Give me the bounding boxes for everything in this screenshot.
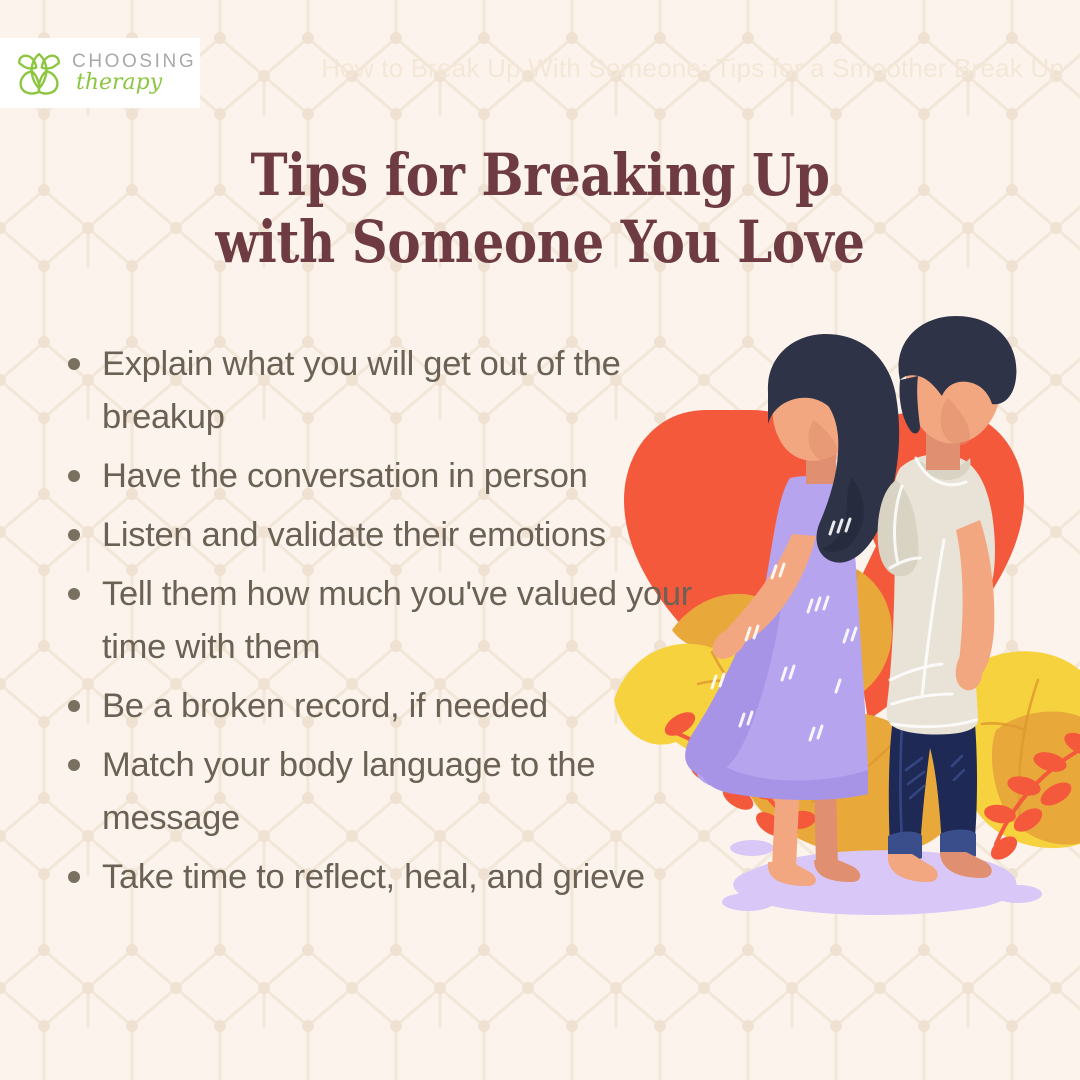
list-item-text: Have the conversation in person xyxy=(102,457,588,495)
logo-word-choosing: CHOOSING xyxy=(72,52,196,71)
list-item: Listen and validate their emotions xyxy=(60,509,700,562)
list-item: Have the conversation in person xyxy=(60,450,700,503)
choosing-therapy-logo[interactable]: CHOOSING therapy xyxy=(0,38,200,108)
list-item-text: Match your body language to the message xyxy=(102,746,595,837)
page-title: Tips for Breaking Up with Someone You Lo… xyxy=(76,142,1005,277)
bullet-dot-icon xyxy=(68,358,80,370)
page-title-line2: with Someone You Love xyxy=(76,209,1005,276)
list-item-text: Take time to reflect, heal, and grieve xyxy=(102,858,645,896)
list-item-text: Tell them how much you've valued your ti… xyxy=(102,575,692,666)
list-item: Match your body language to the message xyxy=(60,739,700,845)
list-item: Explain what you will get out of the bre… xyxy=(60,338,700,444)
lotus-flower-logo-icon xyxy=(12,46,66,100)
list-item-text: Be a broken record, if needed xyxy=(102,687,548,725)
bullet-dot-icon xyxy=(68,871,80,883)
bullet-dot-icon xyxy=(68,759,80,771)
list-item: Take time to reflect, heal, and grieve xyxy=(60,851,700,904)
list-item-text: Explain what you will get out of the bre… xyxy=(102,345,621,436)
bullet-dot-icon xyxy=(68,470,80,482)
list-item: Tell them how much you've valued your ti… xyxy=(60,568,700,674)
list-item-text: Listen and validate their emotions xyxy=(102,516,606,554)
page-title-line1: Tips for Breaking Up xyxy=(76,142,1005,209)
bullet-dot-icon xyxy=(68,529,80,541)
tips-list: Explain what you will get out of the bre… xyxy=(60,338,700,910)
bullet-dot-icon xyxy=(68,700,80,712)
bullet-dot-icon xyxy=(68,588,80,600)
logo-word-therapy: therapy xyxy=(76,72,196,94)
list-item: Be a broken record, if needed xyxy=(60,680,700,733)
article-title-header: How to Break Up With Someone: Tips for a… xyxy=(321,53,1064,84)
infographic-canvas: CHOOSING therapy How to Break Up With So… xyxy=(0,0,1080,1080)
